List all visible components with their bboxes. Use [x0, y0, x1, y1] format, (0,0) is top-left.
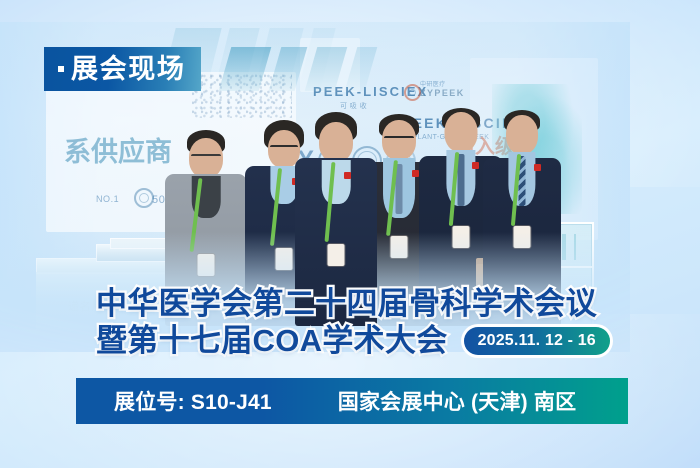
exhibition-banner: 系供应商 NO.1 5000 递名片 PEEK-LISCIEX 可 吸 收 ZY…: [0, 0, 700, 468]
necktie: [458, 154, 465, 206]
date-badge: 2025.11. 12 - 16: [464, 327, 610, 355]
section-tag-label: 展会现场: [71, 56, 185, 83]
venue-label: 国家会展中心 (天津) 南区: [338, 386, 577, 416]
headline-line-1: 中华医学会第二十四届骨科学术会议: [96, 288, 610, 319]
shirt: [322, 160, 351, 204]
lapel-pin: [534, 164, 541, 171]
head: [445, 112, 478, 152]
lapel-pin: [344, 172, 351, 179]
badge-card: [328, 244, 345, 266]
head: [319, 122, 353, 162]
glasses-icon: [384, 136, 414, 146]
headline-block: 中华医学会第二十四届骨科学术会议 暨第十七届COA学术大会 2025.11. 1…: [96, 288, 610, 356]
date-badge-label: 2025.11. 12 - 16: [478, 333, 596, 349]
booth-number-label: 展位号: S10-J41: [114, 386, 272, 416]
info-bar: 展位号: S10-J41 国家会展中心 (天津) 南区: [76, 378, 628, 424]
glasses-icon: [191, 154, 221, 164]
head: [506, 115, 538, 154]
lapel-pin: [472, 162, 479, 169]
headline-text-secondary: 暨第十七届COA学术大会: [96, 325, 448, 356]
section-tag[interactable]: 展会现场: [44, 47, 201, 91]
headline-line-2: 暨第十七届COA学术大会 2025.11. 12 - 16: [96, 325, 610, 356]
headline-text-primary: 中华医学会第二十四届骨科学术会议: [96, 288, 597, 319]
square-bullet-icon: [58, 66, 64, 72]
